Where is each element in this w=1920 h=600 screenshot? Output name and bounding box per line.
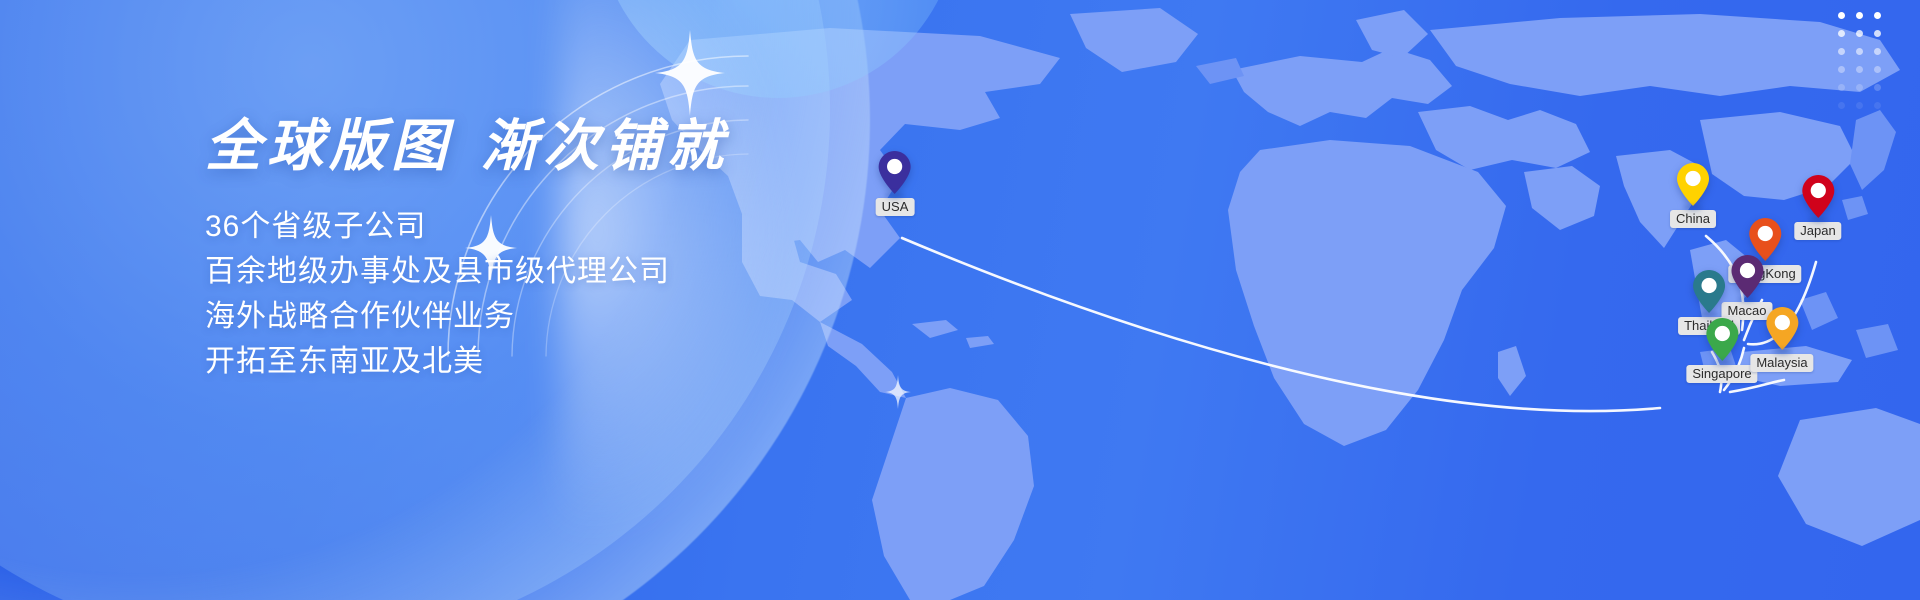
map-marker-label: Malaysia <box>1750 354 1813 372</box>
global-map-banner: 全球版图渐次铺就 36个省级子公司 百余地级办事处及县市级代理公司 海外战略合作… <box>0 0 1920 600</box>
map-pin-icon <box>1705 317 1739 362</box>
map-marker-china[interactable]: China <box>1670 162 1716 228</box>
map-marker-label: Singapore <box>1686 365 1757 383</box>
map-pin-icon <box>878 150 912 195</box>
map-marker-usa[interactable]: USA <box>876 150 915 216</box>
map-marker-singapore[interactable]: Singapore <box>1686 317 1757 383</box>
map-pin-icon <box>1801 174 1835 219</box>
subline-item: 百余地级办事处及县市级代理公司 <box>205 249 965 294</box>
map-marker-malaysia[interactable]: Malaysia <box>1750 306 1813 372</box>
map-pin-icon <box>1676 162 1710 207</box>
dot-grid-decoration <box>1838 12 1892 120</box>
map-pin-icon <box>1692 269 1726 314</box>
headline-part-2: 渐次铺就 <box>481 114 729 177</box>
map-marker-label: China <box>1670 210 1716 228</box>
subline-item: 36个省级子公司 <box>205 204 965 249</box>
subline-item: 海外战略合作伙伴业务 <box>205 294 965 339</box>
map-marker-label: USA <box>876 198 915 216</box>
subline-list: 36个省级子公司 百余地级办事处及县市级代理公司 海外战略合作伙伴业务 开拓至东… <box>205 204 965 384</box>
copy-block: 全球版图渐次铺就 36个省级子公司 百余地级办事处及县市级代理公司 海外战略合作… <box>205 118 965 384</box>
headline-part-1: 全球版图 <box>205 114 453 177</box>
map-pin-icon <box>1765 306 1799 351</box>
subline-item: 开拓至东南亚及北美 <box>205 339 965 384</box>
page-title: 全球版图渐次铺就 <box>205 118 965 174</box>
